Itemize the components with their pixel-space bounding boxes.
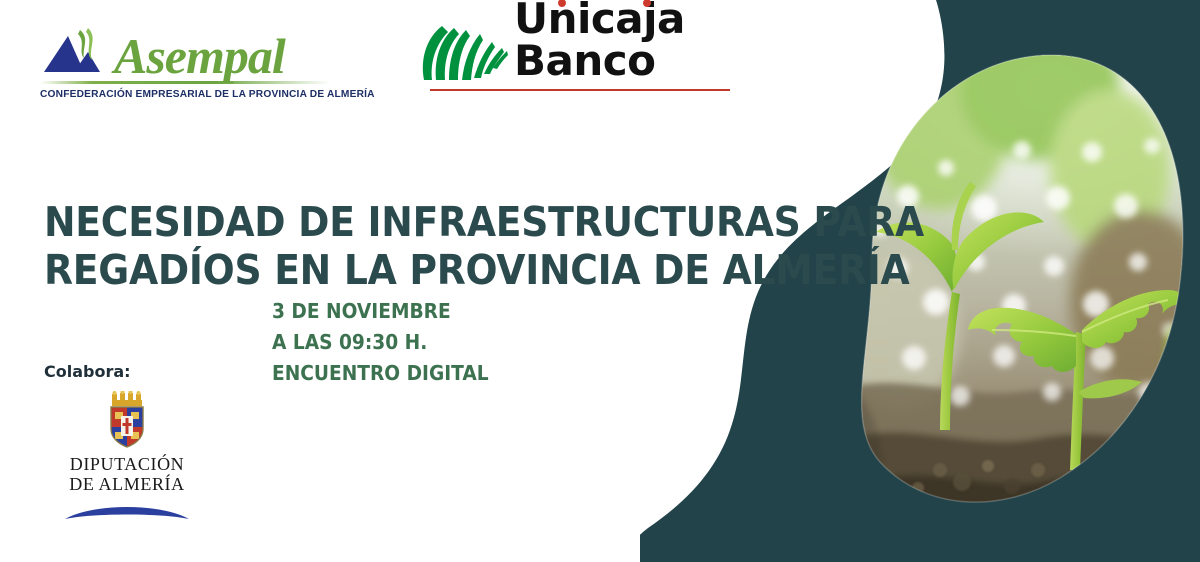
unicaja-word-banco: Banco [514,36,656,85]
diputacion-wordmark: DIPUTACIÓN DE ALMERÍA [52,454,202,494]
diputacion-line-2: DE ALMERÍA [52,474,202,494]
event-time: A LAS 09:30 H. [272,327,489,358]
unicaja-fan-icon [418,20,508,84]
event-format: ENCUENTRO DIGITAL [272,358,489,389]
diputacion-blue-arc-icon [63,501,191,521]
headline-line-2: REGADÍOS EN LA PROVINCIA DE ALMERÍA [44,247,716,295]
almeria-coat-of-arms-icon [104,391,150,449]
event-details: 3 DE NOVIEMBRE A LAS 09:30 H. ENCUENTRO … [272,296,489,389]
collaborator-label: Colabora: [44,362,224,381]
unicaja-red-underline [430,89,730,91]
page-title: NECESIDAD DE INFRAESTRUCTURAS PARA REGAD… [44,199,716,295]
event-poster: Asempal CONFEDERACIÓN EMPRESARIAL DE LA … [0,0,1200,562]
diputacion-de-almeria-logo: DIPUTACIÓN DE ALMERÍA [52,391,202,521]
diputacion-line-1: DIPUTACIÓN [52,454,202,474]
asempal-wordmark: Asempal [114,33,285,81]
unicaja-wordmark: Unicaja Banco [514,0,748,84]
unicaja-banco-logo: Unicaja Banco [418,20,748,102]
collaborator-block: Colabora: [44,362,224,521]
headline-line-1: NECESIDAD DE INFRAESTRUCTURAS PARA [44,199,716,247]
asempal-mountains-icon [40,26,112,80]
asempal-logo: Asempal CONFEDERACIÓN EMPRESARIAL DE LA … [40,18,330,110]
event-date: 3 DE NOVIEMBRE [272,296,489,327]
asempal-tagline: CONFEDERACIÓN EMPRESARIAL DE LA PROVINCI… [40,88,321,100]
